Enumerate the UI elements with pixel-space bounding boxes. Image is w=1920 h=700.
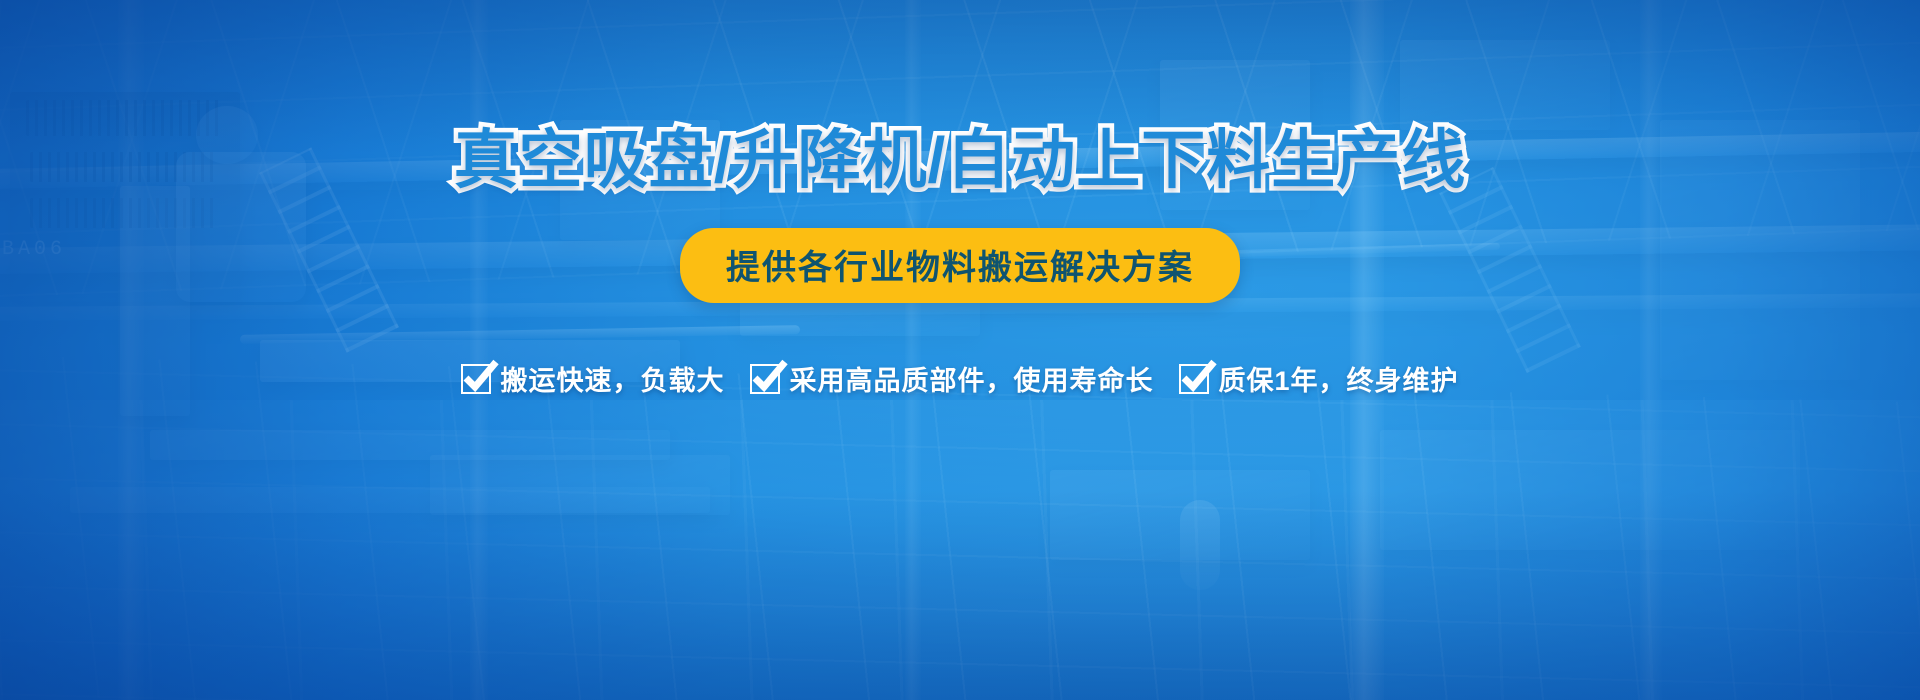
tagline-badge: 提供各行业物料搬运解决方案 [680,228,1240,303]
feature-label: 采用高品质部件，使用寿命长 [789,359,1153,398]
feature-list: 搬运快速，负载大 采用高品质部件，使用寿命长 质保1年，终身维护 [461,359,1458,398]
banner-headline: 真空吸盘/升降机/自动上下料生产线 [454,128,1467,192]
checkbox-check-icon [461,364,491,394]
feature-item: 采用高品质部件，使用寿命长 [750,359,1153,398]
checkbox-check-icon [1179,364,1209,394]
feature-label: 搬运快速，负载大 [500,359,724,398]
feature-item: 搬运快速，负载大 [461,359,724,398]
promo-banner: BA06 真空吸盘/升降机/自动上下料生产线 提供各行业物料搬运解决方案 搬运快… [0,0,1920,700]
feature-label: 质保1年，终身维护 [1218,359,1458,398]
feature-item: 质保1年，终身维护 [1179,359,1458,398]
banner-content: 真空吸盘/升降机/自动上下料生产线 提供各行业物料搬运解决方案 搬运快速，负载大… [0,0,1920,700]
checkbox-check-icon [750,364,780,394]
